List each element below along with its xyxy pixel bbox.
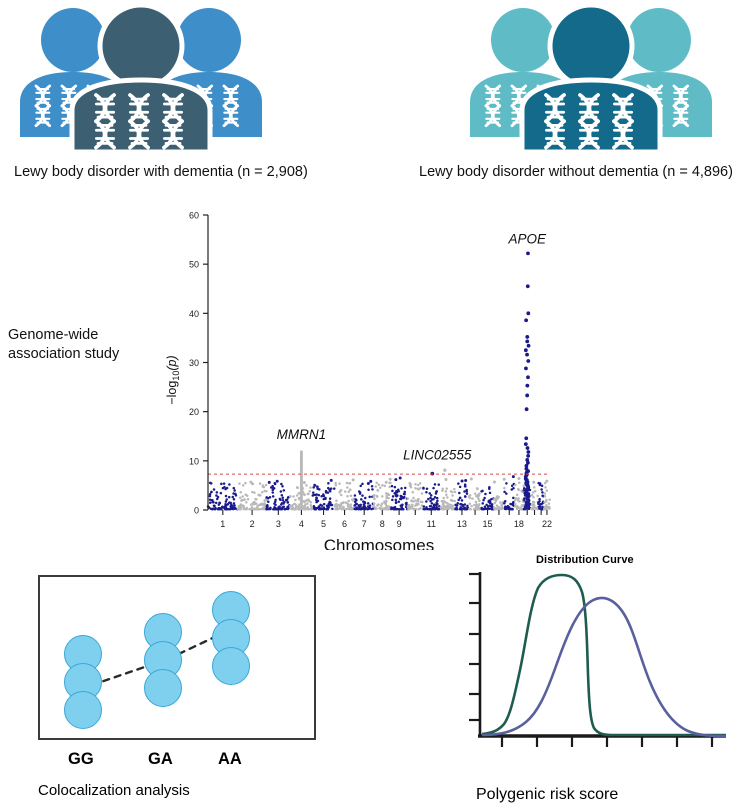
svg-text:11: 11 — [427, 519, 436, 529]
coloc-point — [144, 669, 182, 707]
svg-text:LINC02555: LINC02555 — [403, 448, 472, 463]
svg-text:7: 7 — [362, 519, 367, 529]
svg-text:18: 18 — [514, 519, 524, 529]
figure-root: Lewy body disorder with dementia (n = 2,… — [0, 0, 747, 811]
gwas-row-label: Genome-wide association study — [8, 326, 158, 364]
svg-text:5: 5 — [321, 519, 326, 529]
coloc-xtick-ga: GA — [148, 750, 173, 769]
colocalization-panel: Gene expression GG GA AA Colocalization … — [10, 560, 340, 810]
coloc-plot-area — [38, 575, 316, 740]
svg-text:0: 0 — [194, 506, 199, 516]
prs-distribution-svg — [440, 548, 740, 773]
prs-curve-2 — [482, 598, 726, 736]
svg-text:6: 6 — [342, 519, 347, 529]
cohort-caption-with-dementia: Lewy body disorder with dementia (n = 2,… — [14, 163, 344, 182]
svg-text:10: 10 — [189, 456, 199, 466]
svg-text:9: 9 — [397, 519, 402, 529]
svg-text:Chromosomes: Chromosomes — [324, 536, 435, 550]
coloc-caption: Colocalization analysis — [38, 782, 190, 799]
coloc-xtick-gg: GG — [68, 750, 94, 769]
svg-text:−log10(p): −log10(p) — [165, 355, 181, 404]
svg-text:3: 3 — [276, 519, 281, 529]
coloc-xtick-aa: AA — [218, 750, 242, 769]
coloc-point — [212, 647, 250, 685]
svg-text:2: 2 — [250, 519, 255, 529]
svg-text:30: 30 — [189, 358, 199, 368]
cohort-with-dementia — [10, 2, 290, 157]
svg-text:22: 22 — [542, 519, 552, 529]
prs-title: Distribution Curve — [536, 554, 634, 566]
prs-caption: Polygenic risk score — [476, 786, 618, 804]
people-dna-group-icon — [10, 2, 290, 157]
people-dna-group-icon — [460, 2, 740, 157]
svg-text:1: 1 — [220, 519, 225, 529]
svg-text:8: 8 — [380, 519, 385, 529]
prs-y-ticks — [469, 574, 480, 720]
coloc-point — [64, 691, 102, 729]
svg-text:60: 60 — [189, 211, 199, 221]
polygenic-risk-score-panel: Distribution Curve — [440, 548, 740, 810]
svg-text:MMRN1: MMRN1 — [277, 427, 327, 442]
cohort-caption-without-dementia: Lewy body disorder without dementia (n =… — [419, 163, 741, 182]
svg-text:13: 13 — [457, 519, 467, 529]
svg-text:4: 4 — [299, 519, 304, 529]
svg-text:15: 15 — [483, 519, 493, 529]
svg-text:40: 40 — [189, 309, 199, 319]
manhattan-plot-svg: 01020304050601234567891113151822−log10(p… — [160, 205, 560, 550]
svg-text:50: 50 — [189, 260, 199, 270]
svg-text:20: 20 — [189, 407, 199, 417]
cohort-without-dementia — [460, 2, 740, 157]
manhattan-plot: 01020304050601234567891113151822−log10(p… — [160, 205, 560, 550]
svg-text:APOE: APOE — [507, 231, 547, 246]
